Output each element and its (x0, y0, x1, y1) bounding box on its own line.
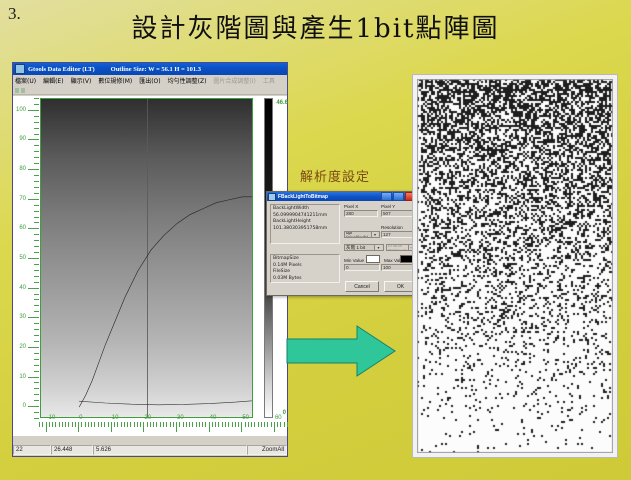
plot-curves (41, 99, 252, 417)
min-color-swatch[interactable] (366, 255, 380, 263)
x-axis-tick-label: 30 (177, 415, 184, 421)
page-title: 設計灰階圖與產生1bit點陣圖 (0, 8, 631, 45)
backlight-height-value: 101.380303951758mm (273, 226, 337, 233)
grayscale-gradient-plot[interactable] (40, 98, 253, 418)
outline-size-text: Outline Size: W = 56.1 H = 101.3 (111, 66, 201, 73)
x-axis-tick-label: 10 (112, 415, 119, 421)
process-arrow-icon (285, 323, 397, 379)
dialog-title: FBackLightToBitmap (278, 194, 380, 200)
y-axis-tick-label: 60 (19, 225, 26, 231)
status-field-2: 26.448 (51, 445, 93, 455)
menu-item-file[interactable]: 檔案(U) (15, 76, 36, 85)
color-depth-value: 灰階 1 bit (346, 245, 365, 251)
toolbar-icon-2[interactable] (21, 88, 25, 93)
y-axis-tick-label: 10 (19, 374, 26, 380)
min-value-input[interactable]: 0 (344, 264, 380, 271)
resolution-label: Resolution (381, 225, 403, 230)
bitmap-info-panel: BitmapSize 0.14M Pixels FileSize 0.03M B… (270, 254, 340, 283)
pixel-x-input[interactable]: 280 (344, 210, 378, 217)
chevron-down-icon[interactable]: ▾ (374, 245, 382, 250)
max-value-input[interactable]: 100 (381, 264, 415, 271)
status-field-1: 22 (13, 445, 51, 455)
y-axis-tick-label: 80 (19, 166, 26, 172)
menu-item-tools: 工具 (263, 76, 275, 85)
dialog-body: BackLightWidth 56.0999904741211mm BackLi… (267, 201, 417, 295)
resolution-annotation: 解析度設定 (300, 166, 370, 185)
min-value-label: Min Value (344, 258, 364, 263)
dithered-bitmap-output (417, 79, 613, 453)
colorbar-max-label: 46.6 (276, 100, 288, 106)
color-depth-select[interactable]: 灰階 1 bit ▾ (344, 244, 384, 251)
menu-item-image-compose: 圖片合成調整(I) (213, 76, 255, 85)
y-axis-tick-label: 0 (23, 403, 26, 409)
bitmap-filesize-label: FileSize (273, 269, 337, 276)
toolbar-icon-1[interactable] (15, 88, 19, 93)
minimize-icon[interactable] (381, 192, 392, 201)
optimize-select: Enable Optimum ▾ (386, 244, 415, 251)
y-axis-ruler: 0102030405060708090100 (13, 96, 39, 418)
y-axis-tick-label: 90 (19, 136, 26, 142)
x-axis-tick-label: 50 (242, 415, 249, 421)
menu-item-digital-edit[interactable]: 數位規修(M) (98, 76, 132, 85)
backlight-to-bitmap-dialog[interactable]: FBackLightToBitmap BackLightWidth 56.099… (266, 191, 418, 296)
x-axis-tick-label: 60 (275, 415, 282, 421)
y-axis-tick-label: 100 (16, 107, 26, 113)
x-axis-tick-label: -10 (47, 415, 56, 421)
unit-select[interactable]: dpi (pixel/inch) ▾ (344, 231, 380, 238)
editor-statusbar: 22 26.448 5.626 ZoomAll (13, 444, 287, 456)
backlight-info-panel: BackLightWidth 56.0999904741211mm BackLi… (270, 204, 340, 244)
dialog-app-icon (268, 193, 276, 201)
colorbar-min-label: 0 (283, 410, 286, 416)
bitmap-size-label: BitmapSize (273, 256, 337, 263)
y-axis-tick-label: 20 (19, 344, 26, 350)
pixel-x-label: Pixel X (344, 204, 358, 209)
maximize-icon[interactable] (393, 192, 404, 201)
backlight-width-label: BackLightWidth (273, 206, 337, 213)
editor-title: Gtools Data Editor (LT) (28, 66, 95, 73)
dialog-titlebar[interactable]: FBackLightToBitmap (267, 192, 417, 201)
bitmap-filesize-value: 0.03M Bytes (273, 276, 337, 283)
x-axis-ruler: -100102030405060 (39, 418, 287, 436)
editor-menubar[interactable]: 檔案(U) 編輯(E) 顯示(V) 數位規修(M) 匯出(O) 均勻性調整(Z)… (13, 75, 287, 86)
pixel-y-input[interactable]: 507 (381, 210, 415, 217)
optimize-value: Enable Optimum (388, 244, 408, 251)
unit-select-value: dpi (pixel/inch) (346, 231, 371, 238)
app-icon (15, 64, 25, 74)
editor-titlebar[interactable]: Gtools Data Editor (LT) Outline Size: W … (13, 63, 287, 75)
y-axis-tick-label: 40 (19, 285, 26, 291)
menu-item-export[interactable]: 匯出(O) (139, 76, 160, 85)
x-axis-tick-label: 20 (144, 415, 151, 421)
y-axis-tick-label: 70 (19, 196, 26, 202)
chart-plot-area[interactable]: 0102030405060708090100 46.6 0 -100102030… (13, 96, 287, 436)
menu-item-uniformity[interactable]: 均勻性調整(Z) (168, 76, 207, 85)
status-field-3: 5.626 (93, 445, 247, 455)
y-axis-tick-label: 30 (19, 314, 26, 320)
resolution-input[interactable]: 127 (381, 231, 415, 238)
dithered-bitmap-panel (412, 74, 618, 458)
y-axis-tick-label: 50 (19, 255, 26, 261)
backlight-height-label: BackLightHeight (273, 219, 337, 226)
cancel-button[interactable]: Cancel (345, 281, 379, 292)
status-zoom-mode: ZoomAll (247, 445, 287, 455)
x-axis-tick-label: 0 (79, 415, 82, 421)
editor-toolbar[interactable] (13, 86, 287, 95)
x-axis-tick-label: 40 (210, 415, 217, 421)
menu-item-edit[interactable]: 編輯(E) (43, 76, 63, 85)
pixel-y-label: Pixel Y (381, 204, 395, 209)
menu-item-view[interactable]: 顯示(V) (71, 76, 92, 85)
gtools-data-editor-window[interactable]: Gtools Data Editor (LT) Outline Size: W … (12, 62, 288, 457)
chevron-down-icon[interactable]: ▾ (371, 232, 378, 237)
